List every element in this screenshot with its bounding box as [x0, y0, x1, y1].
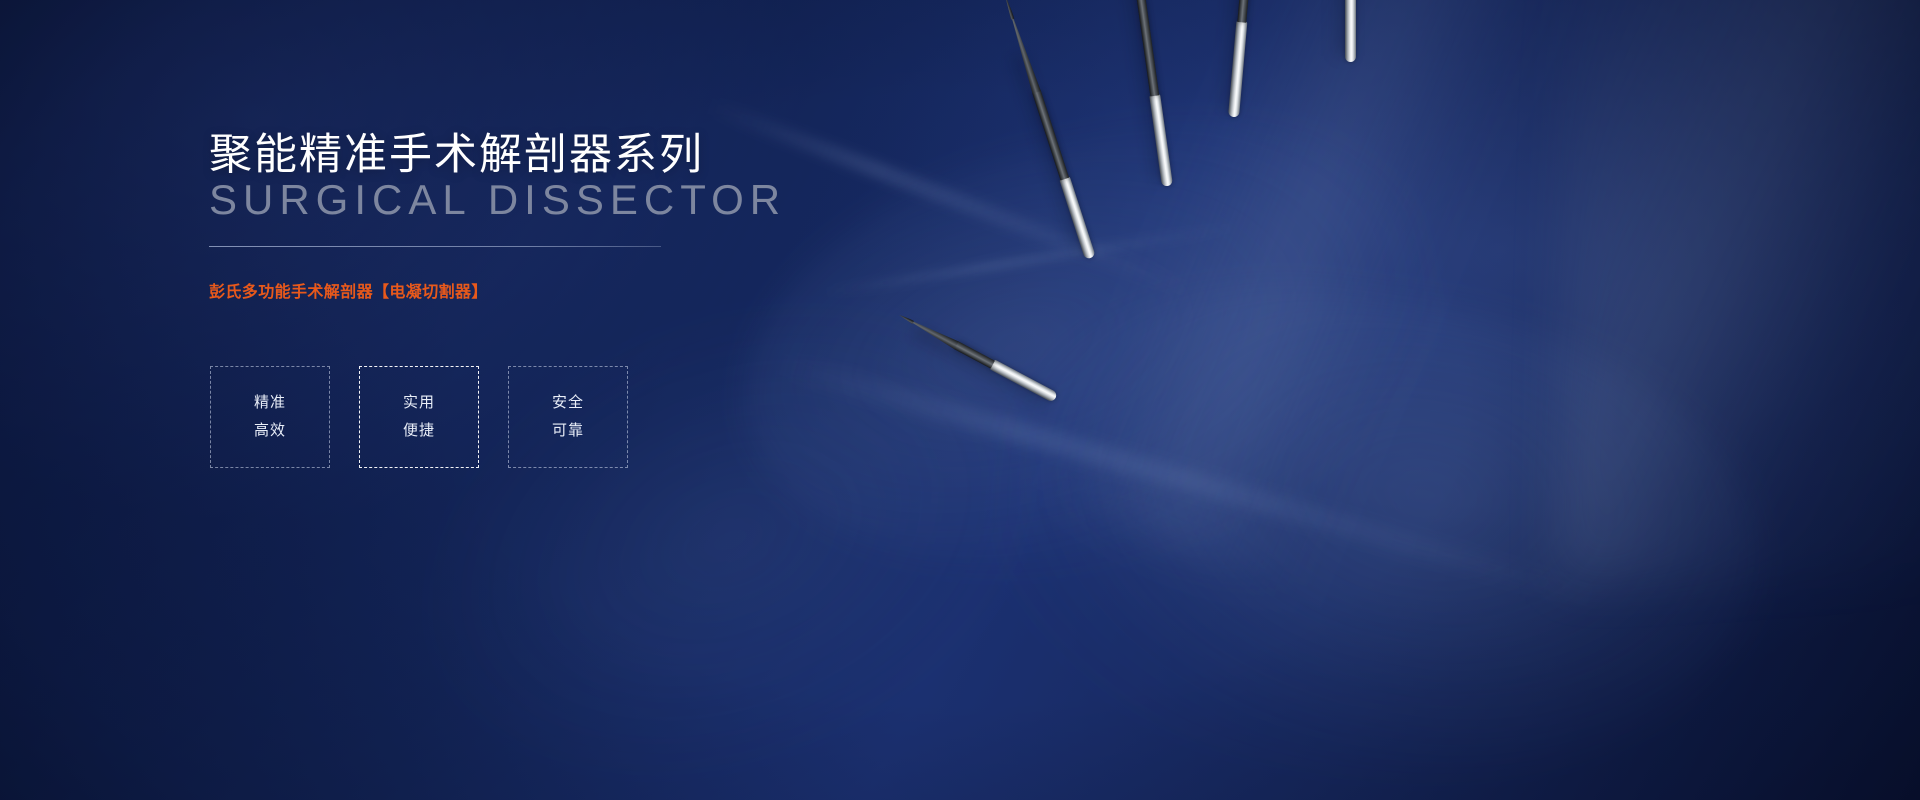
- dissector-4-shaft: [1237, 0, 1259, 23]
- instrument-fan-illustration: [940, 0, 1920, 800]
- feature-badge-1-line-2: 高效: [254, 417, 286, 445]
- dissector-1-tip: [898, 313, 914, 324]
- feature-badge-2-line-1: 实用: [403, 389, 435, 417]
- feature-badge-3-line-1: 安全: [552, 389, 584, 417]
- dissector-4: [1228, 117, 1239, 118]
- dissector-1-shadow: [909, 325, 1050, 411]
- dissector-2: [1085, 256, 1095, 259]
- dissector-1: [1053, 393, 1058, 403]
- feature-badge-2: 实用 便捷: [359, 366, 479, 468]
- feature-badges: 精准 高效 实用 便捷 安全 可靠: [210, 366, 628, 468]
- dissector-5-handle: [1345, 0, 1356, 62]
- feature-badge-1: 精准 高效: [210, 366, 330, 468]
- product-banner: 聚能精准手术解剖器系列 SURGICAL DISSECTOR 彭氏多功能手术解剖…: [0, 0, 1920, 800]
- page-subtitle-english: SURGICAL DISSECTOR: [209, 176, 786, 224]
- product-name-label: 彭氏多功能手术解剖器【电凝切割器】: [209, 278, 488, 302]
- feature-badge-3-line-2: 可靠: [552, 417, 584, 445]
- banner-text-block: 聚能精准手术解剖器系列 SURGICAL DISSECTOR 彭氏多功能手术解剖…: [0, 0, 900, 800]
- dissector-3: [1162, 185, 1173, 187]
- feature-badge-1-line-1: 精准: [254, 389, 286, 417]
- page-title: 聚能精准手术解剖器系列: [209, 120, 704, 182]
- feature-badge-3: 安全 可靠: [508, 366, 628, 468]
- feature-badge-2-line-2: 便捷: [403, 417, 435, 445]
- dissector-2-tip: [1003, 0, 1015, 20]
- divider: [209, 246, 661, 247]
